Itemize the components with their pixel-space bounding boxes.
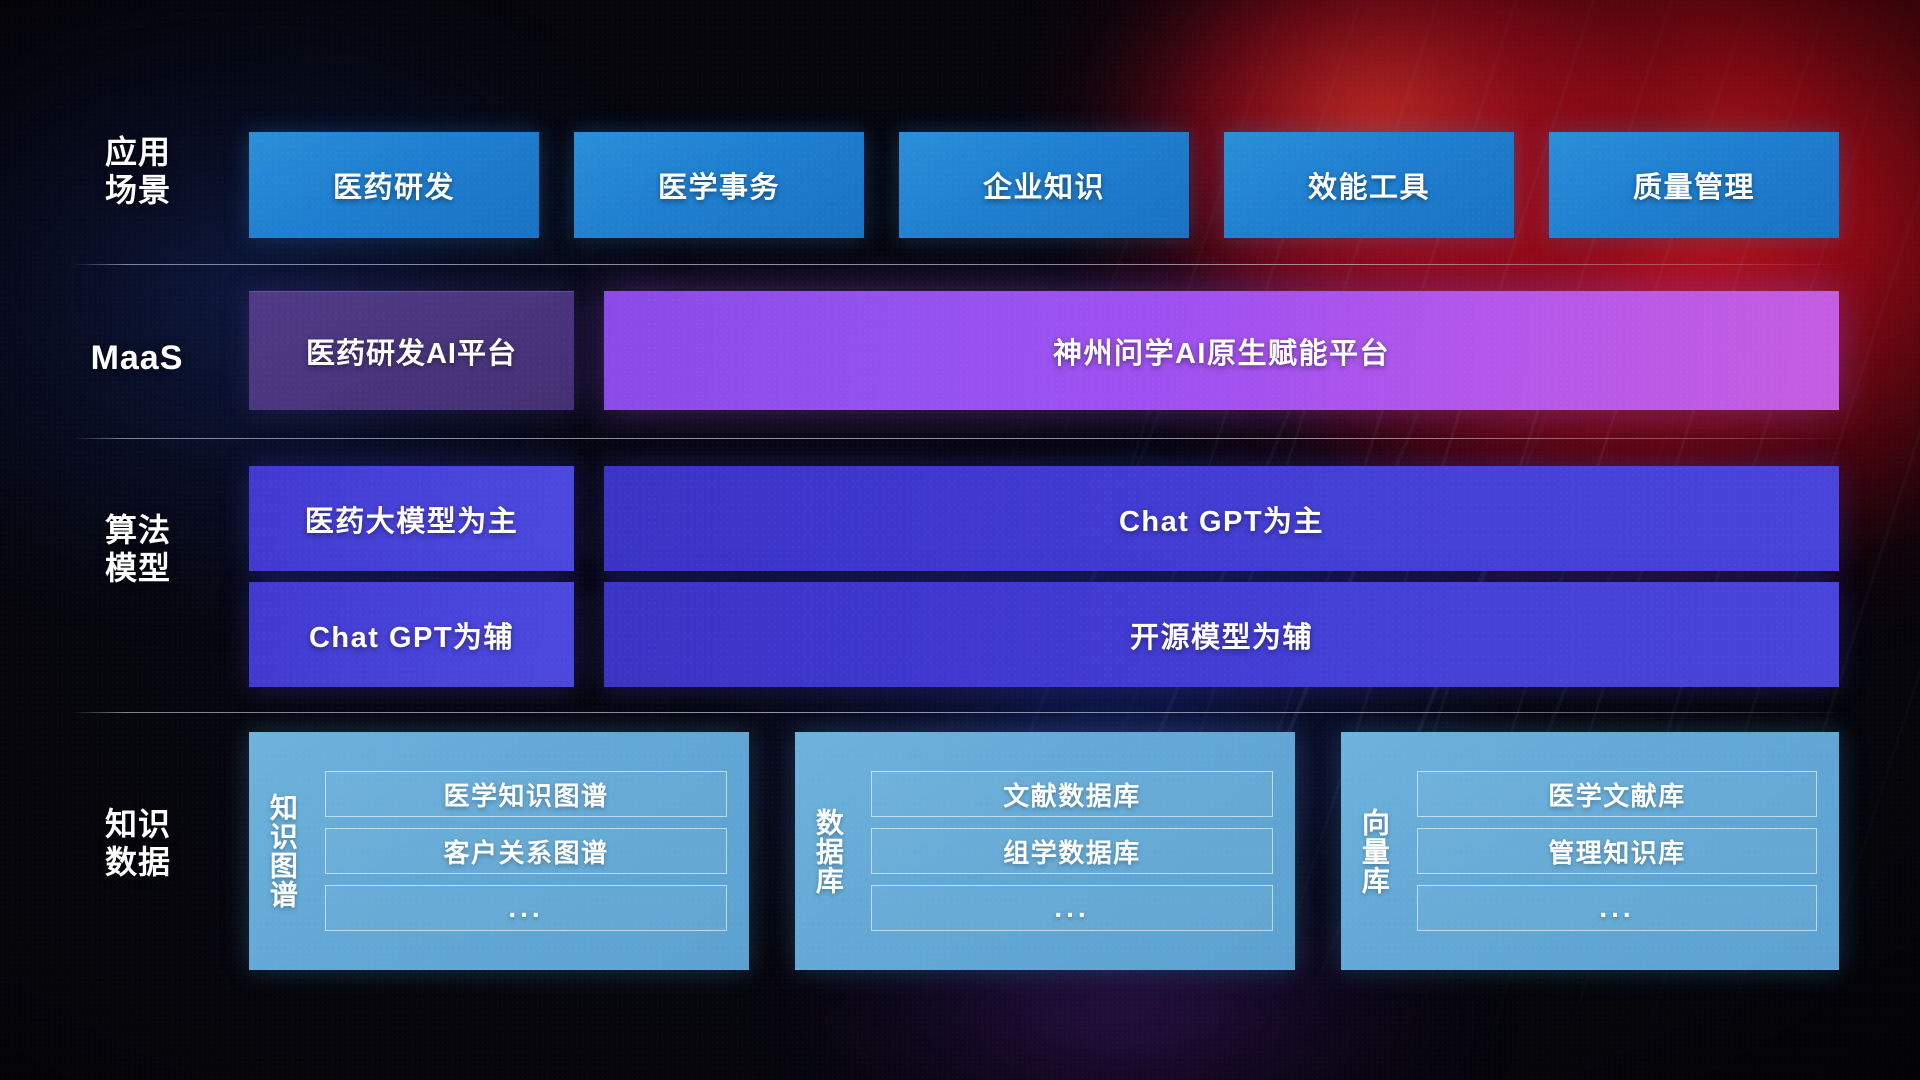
scenario-box-4[interactable]: 效能工具 <box>1224 132 1514 238</box>
tier-label-knowledge-data: 知识 数据 <box>78 806 198 882</box>
scenario-box-1-label: 医药研发 <box>333 164 455 206</box>
scenario-box-2-label: 医学事务 <box>658 164 780 206</box>
divider-2 <box>72 438 1848 439</box>
algo-box-row1-left[interactable]: 医药大模型为主 <box>249 466 574 571</box>
tier-label-algorithm-models: 算法 模型 <box>78 512 198 588</box>
scenario-box-3-label: 企业知识 <box>983 164 1105 206</box>
slide-canvas: 应用 场景 医药研发 医学事务 企业知识 效能工具 质量管理 MaaS 医药研发… <box>0 0 1920 1080</box>
knowledge-item[interactable]: 医学文献库 <box>1417 771 1817 817</box>
knowledge-item[interactable]: 管理知识库 <box>1417 828 1817 874</box>
maas-box-medical-ai-platform[interactable]: 医药研发AI平台 <box>249 291 574 410</box>
maas-box-shenzhou-platform[interactable]: 神州问学AI原生赋能平台 <box>604 291 1839 410</box>
maas-box-right-label: 神州问学AI原生赋能平台 <box>1053 330 1390 372</box>
knowledge-panel-vector[interactable]: 向量库 医学文献库 管理知识库 ... <box>1341 732 1839 970</box>
divider-1 <box>72 264 1848 265</box>
knowledge-item-more[interactable]: ... <box>871 885 1273 931</box>
tier-label-maas: MaaS <box>72 338 202 378</box>
knowledge-item[interactable]: 组学数据库 <box>871 828 1273 874</box>
knowledge-item[interactable]: 医学知识图谱 <box>325 771 727 817</box>
tier-label-application-scenarios: 应用 场景 <box>78 134 198 210</box>
scenario-box-1[interactable]: 医药研发 <box>249 132 539 238</box>
scenario-box-5-label: 质量管理 <box>1633 164 1755 206</box>
knowledge-panel-graph-items: 医学知识图谱 客户关系图谱 ... <box>315 732 749 970</box>
scenario-box-4-label: 效能工具 <box>1308 164 1430 206</box>
knowledge-panel-database-label: 数据库 <box>795 732 861 970</box>
scenario-box-3[interactable]: 企业知识 <box>899 132 1189 238</box>
algo-box-row1-right[interactable]: Chat GPT为主 <box>604 466 1839 571</box>
knowledge-item-more[interactable]: ... <box>325 885 727 931</box>
maas-box-left-label: 医药研发AI平台 <box>306 330 517 372</box>
algo-row1-left-label: 医药大模型为主 <box>305 498 519 540</box>
algo-row2-left-label: Chat GPT为辅 <box>309 614 514 656</box>
scenario-box-5[interactable]: 质量管理 <box>1549 132 1839 238</box>
algo-box-row2-left[interactable]: Chat GPT为辅 <box>249 582 574 687</box>
knowledge-panel-database-items: 文献数据库 组学数据库 ... <box>861 732 1295 970</box>
divider-3 <box>72 712 1848 713</box>
diagram-content: 应用 场景 医药研发 医学事务 企业知识 效能工具 质量管理 MaaS 医药研发… <box>0 0 1920 1080</box>
knowledge-panel-graph[interactable]: 知识图谱 医学知识图谱 客户关系图谱 ... <box>249 732 749 970</box>
knowledge-panel-vector-label: 向量库 <box>1341 732 1407 970</box>
scenario-box-2[interactable]: 医学事务 <box>574 132 864 238</box>
knowledge-item[interactable]: 文献数据库 <box>871 771 1273 817</box>
knowledge-panel-graph-label: 知识图谱 <box>249 732 315 970</box>
knowledge-panel-database[interactable]: 数据库 文献数据库 组学数据库 ... <box>795 732 1295 970</box>
knowledge-item-more[interactable]: ... <box>1417 885 1817 931</box>
algo-row1-right-label: Chat GPT为主 <box>1119 498 1324 540</box>
algo-box-row2-right[interactable]: 开源模型为辅 <box>604 582 1839 687</box>
knowledge-item[interactable]: 客户关系图谱 <box>325 828 727 874</box>
algo-row2-right-label: 开源模型为辅 <box>1130 614 1313 656</box>
knowledge-panel-vector-items: 医学文献库 管理知识库 ... <box>1407 732 1839 970</box>
